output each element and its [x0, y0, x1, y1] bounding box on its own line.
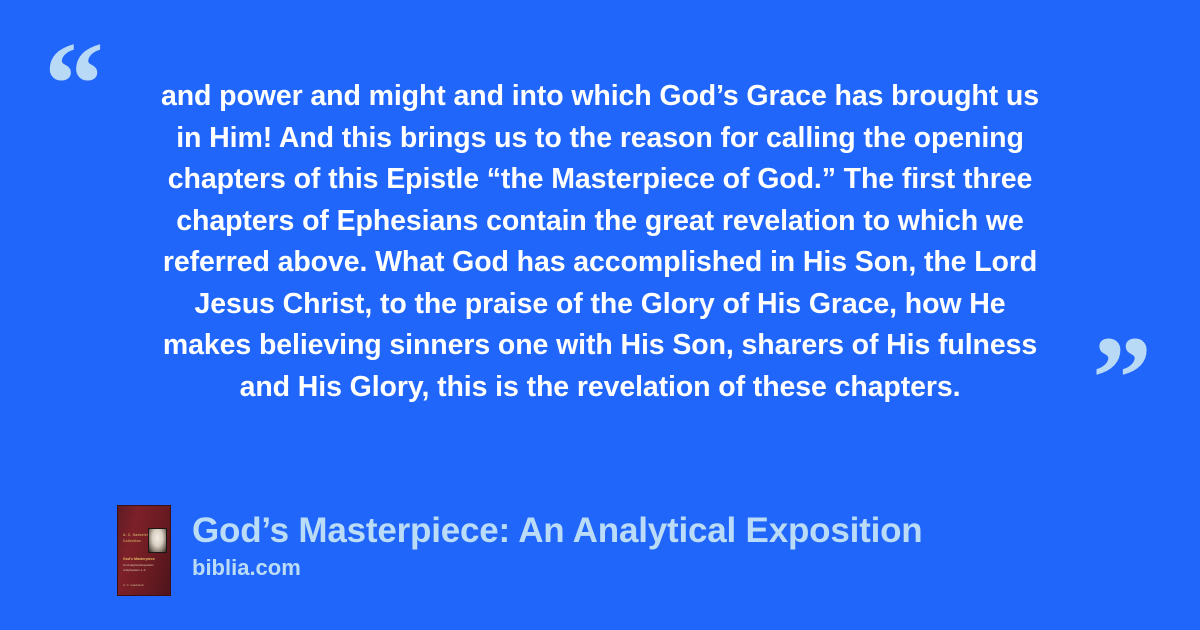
author-portrait-icon: [148, 528, 167, 553]
quote-line: and His Glory, this is the revelation of…: [96, 367, 1104, 409]
close-quote-icon: ”: [1092, 318, 1152, 438]
quote-line: Jesus Christ, to the praise of the Glory…: [96, 284, 1104, 326]
quote-card: “ and power and might and into which God…: [0, 0, 1200, 630]
quote-text: and power and might and into which God’s…: [96, 76, 1104, 408]
book-cover-series-line-2: Collection: [123, 539, 141, 543]
quote-line: chapters of this Epistle “the Masterpiec…: [96, 159, 1104, 201]
footer-text-block: God’s Masterpiece: An Analytical Exposit…: [192, 510, 922, 582]
book-cover-series-line-1: A. C. Gaebelein: [123, 532, 150, 538]
book-cover-thumbnail[interactable]: A. C. Gaebelein Collection God’s Masterp…: [117, 505, 171, 596]
book-title[interactable]: God’s Masterpiece: An Analytical Exposit…: [192, 510, 922, 552]
site-name[interactable]: biblia.com: [192, 554, 922, 582]
book-cover-author: A. C. Gaebelein: [123, 583, 144, 587]
quote-line: makes believing sinners one with His Son…: [96, 325, 1104, 367]
book-cover-title: God’s Masterpiece: [123, 557, 155, 562]
quote-line: chapters of Ephesians contain the great …: [96, 201, 1104, 243]
attribution-footer: A. C. Gaebelein Collection God’s Masterp…: [117, 505, 922, 596]
quote-line: in Him! And this brings us to the reason…: [96, 118, 1104, 160]
quote-line: and power and might and into which God’s…: [96, 76, 1104, 118]
book-cover-subtitle-line-2: of Ephesians 1–3: [123, 568, 145, 572]
quote-line: referred above. What God has accomplishe…: [96, 242, 1104, 284]
book-cover-subtitle-line-1: An Analytical Exposition: [123, 563, 154, 567]
open-quote-icon: “: [44, 24, 104, 144]
